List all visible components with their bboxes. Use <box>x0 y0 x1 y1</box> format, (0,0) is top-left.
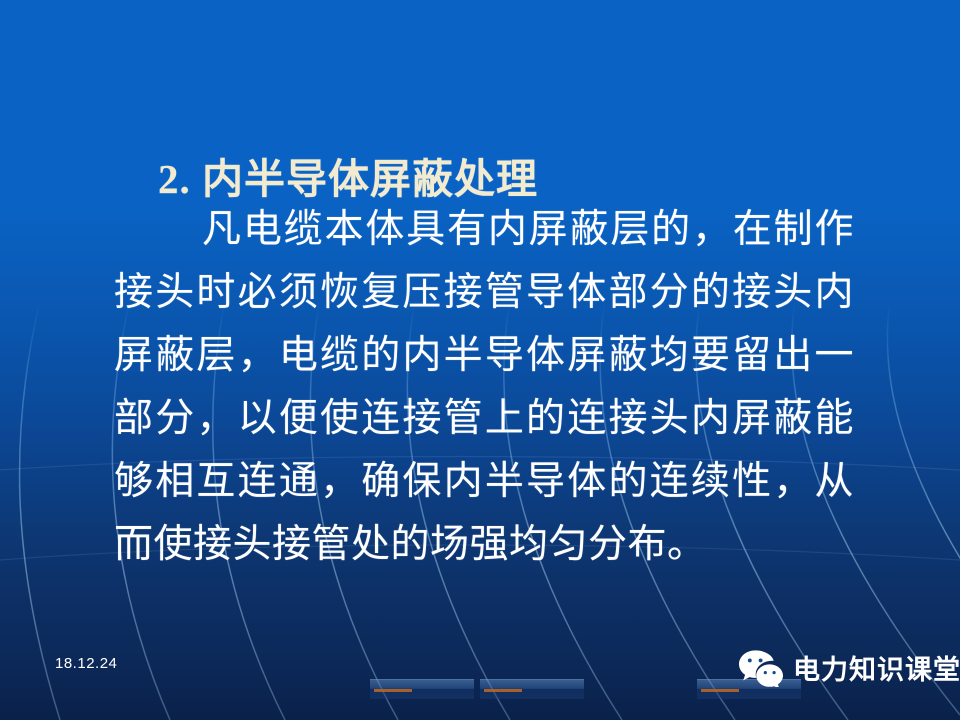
slide-title: 2. 内半导体屏蔽处理 <box>158 157 538 202</box>
watermark-label: 电力知识课堂 <box>793 648 960 687</box>
slide-canvas: 2. 内半导体屏蔽处理 凡电缆本体具有内屏蔽层的，在制作接头时必须恢复压接管导体… <box>0 0 960 720</box>
body-paragraph: 凡电缆本体具有内屏蔽层的，在制作接头时必须恢复压接管导体部分的接头内屏蔽层，电缆… <box>114 198 854 576</box>
wechat-icon <box>738 649 784 687</box>
date-stamp: 18.12.24 <box>55 655 117 672</box>
slide-body: 凡电缆本体具有内屏蔽层的，在制作接头时必须恢复压接管导体部分的接头内屏蔽层，电缆… <box>114 198 854 576</box>
watermark: 电力知识课堂 <box>738 648 960 687</box>
decorative-rect-1 <box>370 679 474 699</box>
decorative-rect-2 <box>480 679 584 699</box>
